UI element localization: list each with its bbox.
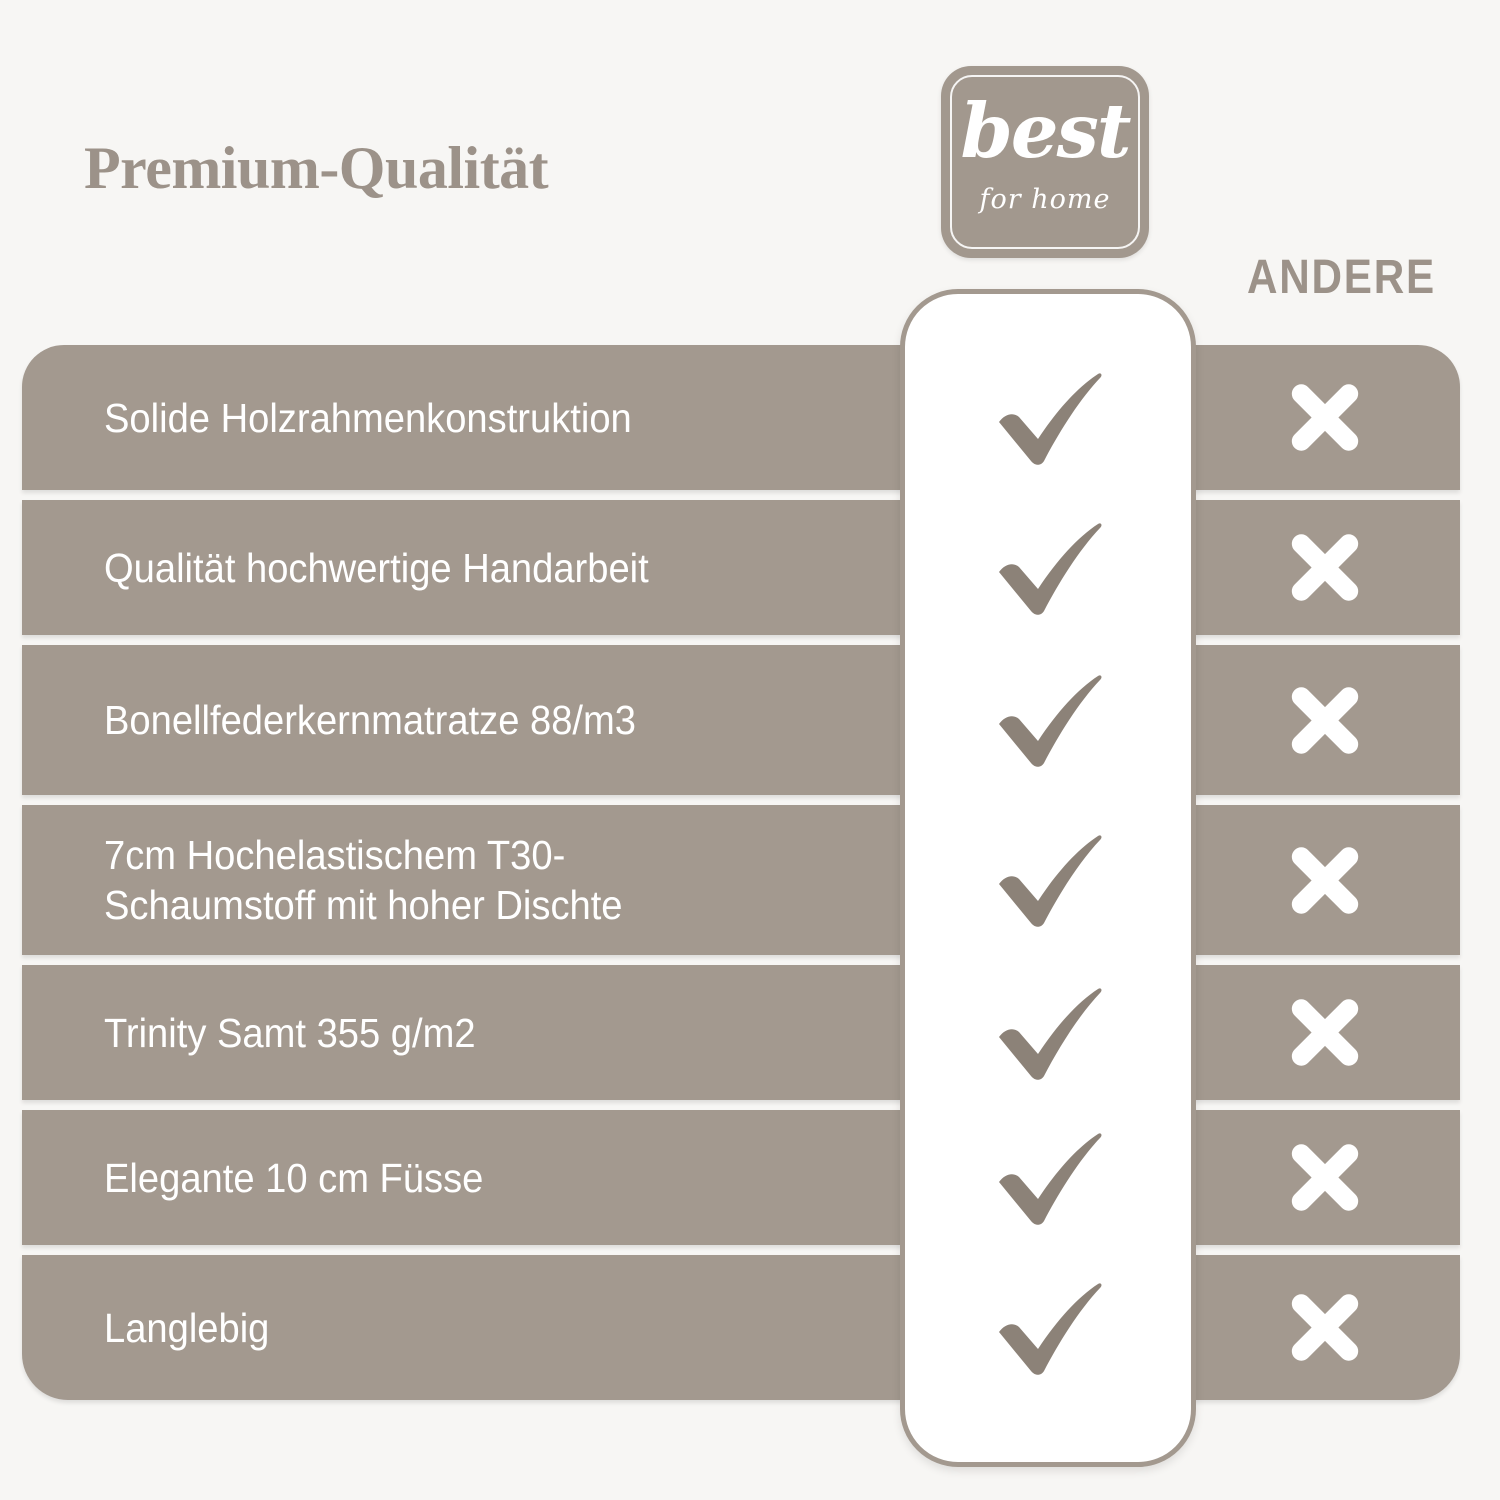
others-cell [1190, 805, 1460, 955]
feature-bar: Elegante 10 cm Füsse [22, 1110, 907, 1245]
table-row: Elegante 10 cm Füsse [0, 1110, 1500, 1245]
table-row: Langlebig [0, 1255, 1500, 1400]
table-row: Trinity Samt 355 g/m2 [0, 965, 1500, 1100]
feature-bar: Bonellfederkernmatratze 88/m3 [22, 645, 907, 795]
infographic-canvas: Premium-Qualität best for home ANDERE So… [0, 0, 1500, 1500]
cross-icon [1284, 1287, 1366, 1369]
cross-icon [1284, 527, 1366, 609]
others-cell [1190, 345, 1460, 490]
feature-bar: Solide Holzrahmenkonstruktion [22, 345, 907, 490]
check-icon [995, 370, 1105, 466]
cross-icon [1284, 679, 1366, 761]
others-cell [1190, 645, 1460, 795]
feature-label: Trinity Samt 355 g/m2 [104, 1008, 829, 1058]
check-icon [995, 672, 1105, 768]
table-row: Bonellfederkernmatratze 88/m3 [0, 645, 1500, 795]
feature-bar: Qualität hochwertige Handarbeit [22, 500, 907, 635]
feature-label: Elegante 10 cm Füsse [104, 1153, 829, 1203]
others-cell [1190, 1255, 1460, 1400]
check-icon [995, 985, 1105, 1081]
feature-label: 7cm Hochelastischem T30- Schaumstoff mit… [104, 830, 829, 930]
table-row: Qualität hochwertige Handarbeit [0, 500, 1500, 635]
check-icon [995, 832, 1105, 928]
check-icon [995, 520, 1105, 616]
feature-bar: 7cm Hochelastischem T30- Schaumstoff mit… [22, 805, 907, 955]
table-row: Solide Holzrahmenkonstruktion [0, 345, 1500, 490]
check-icon [995, 1130, 1105, 1226]
feature-label: Qualität hochwertige Handarbeit [104, 543, 829, 593]
cross-icon [1284, 377, 1366, 459]
comparison-table: Solide HolzrahmenkonstruktionQualität ho… [0, 0, 1500, 1500]
feature-label: Solide Holzrahmenkonstruktion [104, 393, 829, 443]
others-cell [1190, 965, 1460, 1100]
feature-label: Langlebig [104, 1303, 829, 1353]
feature-bar: Trinity Samt 355 g/m2 [22, 965, 907, 1100]
feature-label: Bonellfederkernmatratze 88/m3 [104, 695, 829, 745]
cross-icon [1284, 839, 1366, 921]
others-cell [1190, 500, 1460, 635]
check-icon [995, 1280, 1105, 1376]
feature-bar: Langlebig [22, 1255, 907, 1400]
cross-icon [1284, 992, 1366, 1074]
cross-icon [1284, 1137, 1366, 1219]
table-row: 7cm Hochelastischem T30- Schaumstoff mit… [0, 805, 1500, 955]
others-cell [1190, 1110, 1460, 1245]
